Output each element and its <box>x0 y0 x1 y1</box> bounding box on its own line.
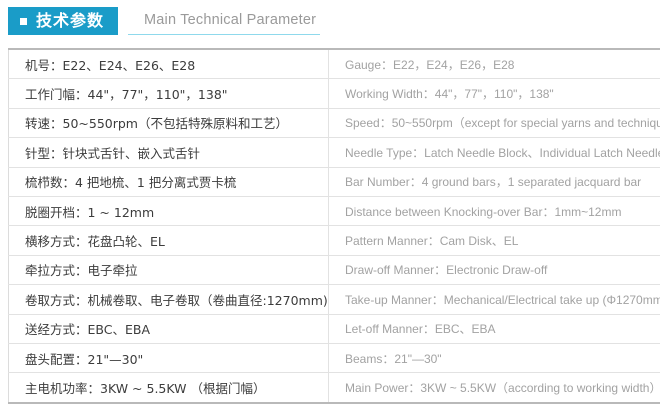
table-row: 牵拉方式：电子牵拉 Draw-off Manner：Electronic Dra… <box>9 255 660 284</box>
spec-cn-7: 牵拉方式：电子牵拉 <box>9 255 329 284</box>
spec-cn-4: 梳栉数：4 把地梳、1 把分离式贾卡梳 <box>9 167 329 196</box>
spec-cn-11: 主电机功率：3KW ~ 5.5KW （根据门幅） <box>9 373 329 403</box>
spec-en-7: Draw-off Manner：Electronic Draw-off <box>329 255 660 284</box>
spec-table-container: 机号：E22、E24、E26、E28 Gauge：E22，E24，E26，E28… <box>8 48 652 404</box>
spec-cn-8: 卷取方式：机械卷取、电子卷取（卷曲直径:1270mm) <box>9 285 329 314</box>
spec-cn-5: 脱圈开档：1 ~ 12mm <box>9 196 329 225</box>
spec-cn-6: 横移方式：花盘凸轮、EL <box>9 226 329 255</box>
spec-en-11: Main Power：3KW ~ 5.5KW（according to work… <box>329 373 660 403</box>
spec-en-9: Let-off Manner：EBC、EBA <box>329 314 660 343</box>
spec-en-4: Bar Number：4 ground bars，1 separated jac… <box>329 167 660 196</box>
spec-en-3: Needle Type：Latch Needle Block、Individua… <box>329 138 660 167</box>
table-row: 卷取方式：机械卷取、电子卷取（卷曲直径:1270mm) Take-up Mann… <box>9 285 660 314</box>
section-tab: 技术参数 <box>8 7 118 35</box>
section-subtitle: Main Technical Parameter <box>144 13 316 28</box>
spec-cn-2: 转速：50~550rpm（不包括特殊原料和工艺） <box>9 108 329 137</box>
table-row: 横移方式：花盘凸轮、EL Pattern Manner：Cam Disk、EL <box>9 226 660 255</box>
spec-en-5: Distance between Knocking-over Bar：1mm~1… <box>329 196 660 225</box>
table-row: 针型：针块式舌针、嵌入式舌针 Needle Type：Latch Needle … <box>9 138 660 167</box>
technical-parameter-table: 机号：E22、E24、E26、E28 Gauge：E22，E24，E26，E28… <box>8 48 660 404</box>
table-row: 梳栉数：4 把地梳、1 把分离式贾卡梳 Bar Number：4 ground … <box>9 167 660 196</box>
spec-cn-3: 针型：针块式舌针、嵌入式舌针 <box>9 138 329 167</box>
spec-cn-10: 盘头配置：21"—30" <box>9 343 329 372</box>
spec-en-2: Speed：50~550rpm（except for special yarns… <box>329 108 660 137</box>
spec-cn-9: 送经方式：EBC、EBA <box>9 314 329 343</box>
spec-en-0: Gauge：E22，E24，E26，E28 <box>329 49 660 79</box>
table-row: 转速：50~550rpm（不包括特殊原料和工艺） Speed：50~550rpm… <box>9 108 660 137</box>
table-row: 送经方式：EBC、EBA Let-off Manner：EBC、EBA <box>9 314 660 343</box>
table-row: 机号：E22、E24、E26、E28 Gauge：E22，E24，E26，E28 <box>9 49 660 79</box>
table-row: 盘头配置：21"—30" Beams：21"—30" <box>9 343 660 372</box>
spec-en-1: Working Width：44"，77"，110"，138" <box>329 79 660 108</box>
spec-en-10: Beams：21"—30" <box>329 343 660 372</box>
header-divider <box>128 34 320 35</box>
square-bullet-icon <box>20 18 27 25</box>
table-row: 工作门幅：44"，77"，110"，138" Working Width：44"… <box>9 79 660 108</box>
section-tab-label: 技术参数 <box>36 13 104 29</box>
table-row: 主电机功率：3KW ~ 5.5KW （根据门幅） Main Power：3KW … <box>9 373 660 403</box>
spec-en-8: Take-up Manner：Mechanical/Electrical tak… <box>329 285 660 314</box>
spec-cn-1: 工作门幅：44"，77"，110"，138" <box>9 79 329 108</box>
spec-cn-0: 机号：E22、E24、E26、E28 <box>9 49 329 79</box>
table-row: 脱圈开档：1 ~ 12mm Distance between Knocking-… <box>9 196 660 225</box>
table-body: 机号：E22、E24、E26、E28 Gauge：E22，E24，E26，E28… <box>9 49 660 403</box>
page-header: 技术参数 Main Technical Parameter <box>0 0 660 42</box>
spec-en-6: Pattern Manner：Cam Disk、EL <box>329 226 660 255</box>
